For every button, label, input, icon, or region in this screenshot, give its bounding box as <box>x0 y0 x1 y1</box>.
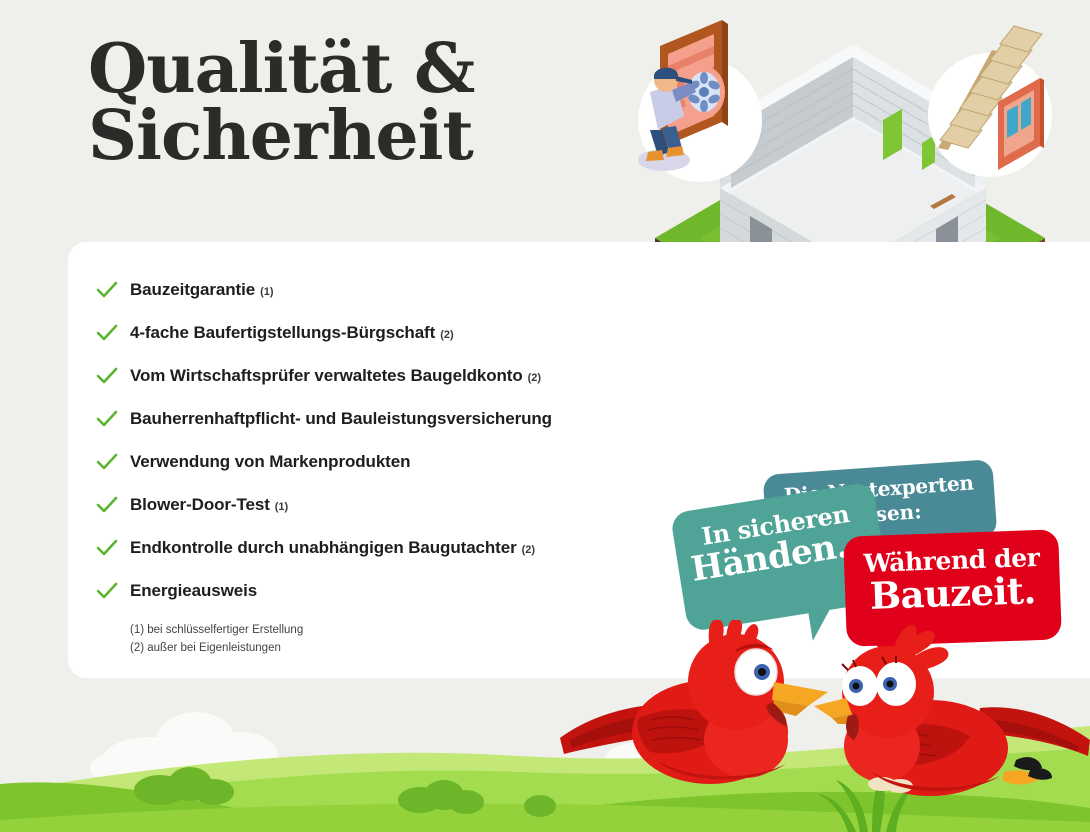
speech-bubble-red-line2: Bauzeit. <box>845 571 1061 615</box>
checklist-item-label: Bauzeitgarantie <box>130 280 255 300</box>
check-icon <box>96 539 130 557</box>
checklist-item-footnote-ref: (2) <box>528 372 541 384</box>
check-icon <box>96 453 130 471</box>
checklist-item: Blower-Door-Test (1) <box>96 483 696 526</box>
checklist-item-label: Blower-Door-Test <box>130 495 270 515</box>
checklist-item: Verwendung von Markenprodukten <box>96 440 696 483</box>
checklist-item: Energieausweis <box>96 569 696 612</box>
checklist: Bauzeitgarantie (1) 4-fache Baufertigste… <box>96 268 696 612</box>
check-icon <box>96 367 130 385</box>
checklist-item-footnote-ref: (2) <box>440 329 453 341</box>
checklist-item-footnote-ref: (1) <box>275 501 288 513</box>
check-icon <box>96 410 130 428</box>
check-icon <box>96 582 130 600</box>
checklist-item-label: Bauherrenhaftpflicht- und Bauleistungsve… <box>130 409 552 429</box>
checklist-item: 4-fache Baufertigstellungs-Bürgschaft (2… <box>96 311 696 354</box>
badge-stairs-window <box>928 26 1052 177</box>
checklist-item-label: Vom Wirtschaftsprüfer verwaltetes Baugel… <box>130 366 523 386</box>
checklist-item-footnote-ref: (1) <box>260 286 273 298</box>
bush-icon <box>524 795 556 817</box>
tail-feathers <box>1002 757 1052 784</box>
checklist-item: Endkontrolle durch unabhängigen Baugutac… <box>96 526 696 569</box>
checklist-item-footnote-ref: (2) <box>522 544 535 556</box>
checklist-item-label: Verwendung von Markenprodukten <box>130 452 410 472</box>
footnote-1: (1) bei schlüsselfertiger Erstellung <box>130 622 303 640</box>
checklist-item-label: Endkontrolle durch unabhängigen Baugutac… <box>130 538 517 558</box>
checklist-item: Bauzeitgarantie (1) <box>96 268 696 311</box>
footnote-2: (2) außer bei Eigenleistungen <box>130 640 303 658</box>
nest-expert-bird-right <box>814 625 1090 796</box>
checklist-item-label: Energieausweis <box>130 581 257 601</box>
checklist-item: Bauherrenhaftpflicht- und Bauleistungsve… <box>96 397 696 440</box>
check-icon <box>96 281 130 299</box>
infographic-page: Qualität & Sicherheit <box>0 0 1090 832</box>
check-icon <box>96 324 130 342</box>
nest-expert-bird-left <box>560 620 828 784</box>
checklist-item-label: 4-fache Baufertigstellungs-Bürgschaft <box>130 323 435 343</box>
checklist-item: Vom Wirtschaftsprüfer verwaltetes Baugel… <box>96 354 696 397</box>
page-title: Qualität & Sicherheit <box>88 36 474 169</box>
bird-characters <box>560 620 1090 832</box>
footnotes: (1) bei schlüsselfertiger Erstellung (2)… <box>130 622 303 658</box>
check-icon <box>96 496 130 514</box>
badge-worker-ventilation <box>638 20 762 182</box>
